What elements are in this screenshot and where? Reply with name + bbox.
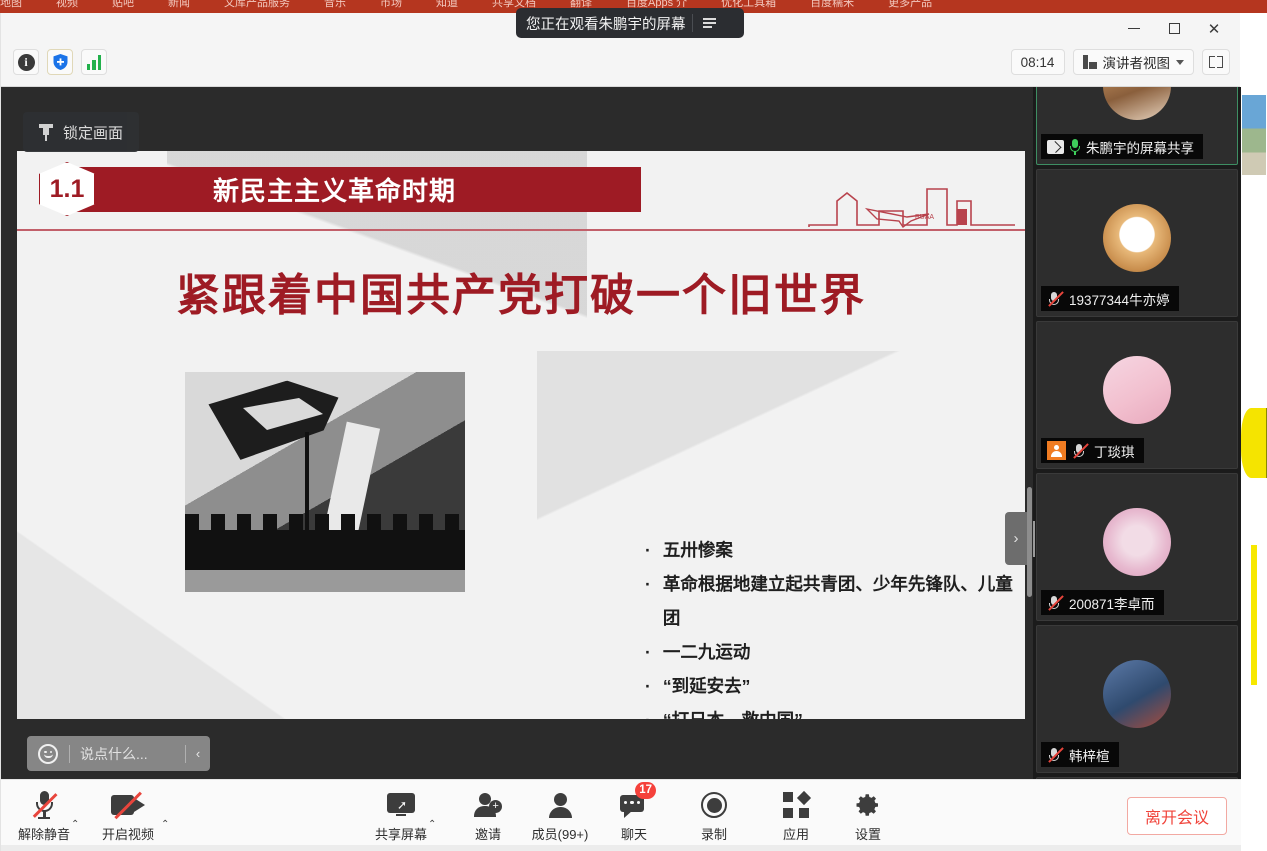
window-controls: ✕	[1114, 13, 1234, 44]
bottom-strip	[1, 845, 1241, 851]
expand-panel-button[interactable]: ›	[1005, 512, 1027, 565]
control-label: 设置	[855, 824, 881, 843]
background-nav-item: 知道	[436, 0, 458, 10]
apps-icon	[783, 789, 809, 821]
control-share-screen[interactable]: ➚共享屏幕⌃	[366, 789, 436, 843]
participant-nametag: 丁琰琪	[1041, 438, 1144, 463]
control-gear[interactable]: 设置	[833, 789, 903, 843]
bullet-text: “到延安去”	[663, 669, 751, 703]
pin-icon	[39, 124, 53, 141]
screen-share-icon	[1047, 140, 1064, 154]
meeting-timer: 08:14	[1011, 49, 1065, 75]
chevron-down-icon	[1176, 60, 1184, 65]
background-nav-item: 文库产品服务	[224, 0, 290, 10]
participant-tile[interactable]: 19377344牛亦婷	[1036, 169, 1238, 317]
slide-bullet-item: ·“打日本，救中国”	[645, 703, 1025, 719]
close-button[interactable]: ✕	[1194, 13, 1234, 44]
control-participants[interactable]: 成员(99+)	[525, 789, 595, 843]
control-label: 邀请	[475, 824, 501, 843]
slide-bullet-item: ·五卅惨案	[645, 533, 1025, 567]
slide-bullet-item: ·一二九运动	[645, 635, 1025, 669]
info-icon[interactable]: i	[13, 49, 39, 75]
background-nav-item: 新闻	[168, 0, 190, 10]
slide-logo-text: BUAA	[915, 214, 934, 221]
avatar	[1103, 204, 1171, 272]
control-label: 开启视频	[102, 824, 154, 843]
meeting-controls-bar: 离开会议 解除静音⌃开启视频⌃➚共享屏幕⌃+邀请成员(99+)17聊天录制应用设…	[1, 779, 1241, 851]
meeting-stage: 锁定画面 新民主主义革命时期 1.1	[1, 87, 1241, 779]
view-mode-dropdown[interactable]: 演讲者视图	[1073, 49, 1195, 75]
chat-input-placeholder[interactable]: 说点什么...	[70, 744, 185, 764]
bullet-dot: ·	[645, 703, 651, 719]
chat-icon: 17	[620, 789, 648, 821]
shield-icon[interactable]	[47, 49, 73, 75]
meeting-window: 您正在观看朱鹏宇的屏幕 ✕ i	[0, 13, 1240, 851]
background-yellow-bar	[1251, 545, 1257, 685]
minimize-button[interactable]	[1114, 13, 1154, 44]
slide-bullet-item: ·“到延安去”	[645, 669, 1025, 703]
lock-screen-label: 锁定画面	[63, 122, 123, 143]
participant-name: 韩梓楦	[1069, 745, 1110, 765]
meeting-toolbar: i 08:14 演讲者视图	[1, 44, 1240, 87]
slide-section-title: 新民主主义革命时期	[213, 171, 456, 208]
participants-icon	[548, 789, 572, 821]
lock-screen-button[interactable]: 锁定画面	[23, 112, 139, 152]
view-mode-label: 演讲者视图	[1103, 52, 1171, 72]
background-nav-item: 更多产品	[888, 0, 932, 10]
background-yellow-shape	[1241, 408, 1267, 478]
toolbar-right-group: 08:14 演讲者视图	[1011, 49, 1231, 75]
control-label: 录制	[701, 824, 727, 843]
maximize-button[interactable]	[1154, 13, 1194, 44]
slide-section-bar: 新民主主义革命时期	[61, 167, 641, 212]
bullet-dot: ·	[645, 635, 651, 669]
bullet-text: 革命根据地建立起共青团、少年先锋队、儿童团	[663, 567, 1025, 635]
participant-name: 朱鹏宇的屏幕共享	[1086, 137, 1194, 157]
participant-name: 丁琰琪	[1094, 441, 1135, 461]
participants-scrollbar[interactable]	[1027, 487, 1032, 597]
bullet-text: “打日本，救中国”	[663, 703, 803, 719]
viewing-screen-banner: 您正在观看朱鹏宇的屏幕	[516, 8, 744, 38]
control-label: 聊天	[621, 824, 647, 843]
participant-name: 19377344牛亦婷	[1069, 289, 1170, 309]
control-invite[interactable]: +邀请	[453, 789, 523, 843]
avatar	[1103, 356, 1171, 424]
gear-icon	[855, 789, 881, 821]
avatar	[1103, 508, 1171, 576]
control-chat[interactable]: 17聊天	[599, 789, 669, 843]
camera-off-icon	[111, 789, 145, 821]
participant-tile[interactable]: 韩梓楦	[1036, 625, 1238, 773]
unread-badge: 17	[635, 782, 656, 799]
signal-icon[interactable]	[81, 49, 107, 75]
slide-main-title: 紧跟着中国共产党打破一个旧世界	[17, 259, 1025, 323]
bullet-text: 五卅惨案	[663, 533, 733, 567]
background-nav-item: 市场	[380, 0, 402, 10]
chevron-up-icon[interactable]: ⌃	[71, 819, 79, 830]
background-nav-item: 地图	[0, 0, 22, 10]
participant-nametag: 朱鹏宇的屏幕共享	[1041, 134, 1203, 159]
participant-nametag: 200871李卓而	[1041, 590, 1164, 615]
presentation-slide: 新民主主义革命时期 1.1 BUAA 紧跟着中国共产党打破一个旧世界	[17, 151, 1025, 719]
participant-tile[interactable]: 200871李卓而	[1036, 473, 1238, 621]
control-label: 共享屏幕	[375, 824, 427, 843]
avatar	[1103, 660, 1171, 728]
floating-chat-input[interactable]: 说点什么... ‹	[27, 736, 210, 771]
participant-tile[interactable]: 朱鹏宇的屏幕共享	[1036, 87, 1238, 165]
share-screen-icon: ➚	[387, 789, 415, 821]
shared-screen-area: 锁定画面 新民主主义革命时期 1.1	[9, 98, 1025, 766]
viewing-screen-label: 您正在观看朱鹏宇的屏幕	[526, 13, 686, 34]
chevron-up-icon[interactable]: ⌃	[428, 819, 436, 830]
participant-name: 200871李卓而	[1069, 593, 1155, 613]
participant-tile[interactable]: 丁琰琪	[1036, 321, 1238, 469]
bullet-dot: ·	[645, 669, 651, 703]
control-label: 应用	[783, 824, 809, 843]
background-nav-item: 音乐	[324, 0, 346, 10]
control-camera-off[interactable]: 开启视频⌃	[93, 789, 163, 843]
control-mic-muted[interactable]: 解除静音⌃	[9, 789, 79, 843]
toolbar-left-group: i	[13, 49, 107, 75]
participant-nametag: 19377344牛亦婷	[1041, 286, 1179, 311]
title-bar: 您正在观看朱鹏宇的屏幕 ✕	[1, 13, 1240, 44]
bullet-dot: ·	[645, 533, 651, 567]
banner-divider	[692, 14, 693, 32]
chevron-up-icon[interactable]: ⌃	[161, 819, 169, 830]
background-nav-item: 贴吧	[112, 0, 134, 10]
mic-muted-icon	[1047, 291, 1063, 307]
control-record[interactable]: 录制	[679, 789, 749, 843]
background-nav-item: 视频	[56, 0, 78, 10]
mic-muted-icon	[1047, 747, 1063, 763]
fullscreen-icon[interactable]	[1202, 49, 1230, 75]
record-icon	[701, 789, 727, 821]
participants-panel[interactable]: 朱鹏宇的屏幕共享19377344牛亦婷丁琰琪200871李卓而韩梓楦⌄	[1033, 87, 1241, 779]
emoji-icon[interactable]	[27, 744, 69, 764]
background-nav-item: 百度糯米	[810, 0, 854, 10]
background-thumbnail	[1242, 95, 1266, 175]
mic-muted-icon	[1072, 443, 1088, 459]
slide-header-rule	[17, 229, 1025, 231]
control-label: 成员(99+)	[532, 824, 589, 843]
banner-menu-icon[interactable]	[699, 18, 720, 28]
host-icon	[1047, 441, 1066, 460]
chat-collapse-icon[interactable]: ‹	[186, 746, 210, 761]
invite-icon: +	[474, 789, 502, 821]
slide-photo	[185, 372, 465, 592]
mic-muted-icon	[1047, 595, 1063, 611]
slide-bullet-list: ·五卅惨案·革命根据地建立起共青团、少年先锋队、儿童团·一二九运动·“到延安去”…	[645, 533, 1025, 719]
control-label: 解除静音	[18, 824, 70, 843]
leave-meeting-button[interactable]: 离开会议	[1127, 797, 1227, 835]
participant-nametag: 韩梓楦	[1041, 742, 1119, 767]
shield-plus-glyph	[52, 53, 69, 71]
bullet-text: 一二九运动	[663, 635, 751, 669]
mic-muted-icon	[33, 789, 55, 821]
skyline-decoration: BUAA	[807, 181, 1017, 229]
mic-on-icon	[1070, 139, 1080, 155]
bullet-dot: ·	[645, 567, 651, 635]
slide-section-number: 1.1	[50, 175, 85, 204]
layout-icon	[1083, 55, 1097, 69]
avatar	[1103, 87, 1171, 120]
slide-bullet-item: ·革命根据地建立起共青团、少年先锋队、儿童团	[645, 567, 1025, 635]
control-apps[interactable]: 应用	[761, 789, 831, 843]
